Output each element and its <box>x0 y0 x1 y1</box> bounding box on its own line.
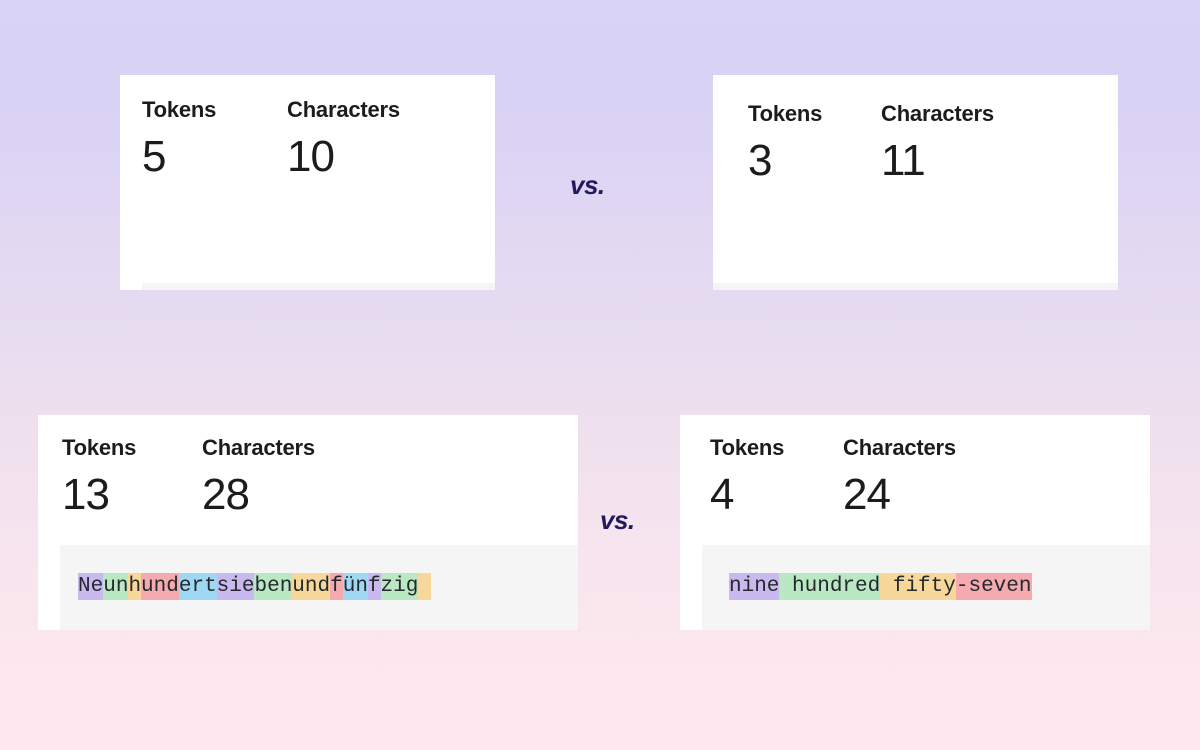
characters-label: Characters <box>202 437 315 459</box>
card-header: Tokens 5 Characters 10 <box>120 75 495 207</box>
token-chip: ün <box>343 573 368 600</box>
comparison-stage: Tokens 5 Characters 10 Cómo estás vs. To… <box>0 0 1200 750</box>
tokens-value: 4 <box>710 473 843 517</box>
tokens-value: 3 <box>748 139 881 183</box>
token-card-german-english: Tokens 4 Characters 24 nine hundred fift… <box>680 415 1150 630</box>
characters-stat: Characters 10 <box>287 99 400 179</box>
characters-label: Characters <box>881 103 994 125</box>
token-chip: hundred <box>779 573 880 600</box>
token-chip: nine <box>729 573 779 600</box>
token-card-spanish: Tokens 5 Characters 10 Cómo estás <box>120 75 495 290</box>
token-chip: zig <box>381 573 419 600</box>
token-chip: sie <box>217 573 255 600</box>
tokens-value: 13 <box>62 473 202 517</box>
characters-value: 24 <box>843 473 956 517</box>
characters-stat: Characters 28 <box>202 437 315 517</box>
versus-separator-top: vs. <box>570 170 605 201</box>
token-chip: ert <box>179 573 217 600</box>
tokens-stat: Tokens 13 <box>62 437 202 517</box>
versus-separator-bottom: vs. <box>600 505 635 536</box>
card-header: Tokens 3 Characters 11 <box>713 75 1118 207</box>
token-chip: f <box>368 573 381 600</box>
token-card-german: Tokens 13 Characters 28 Neunhundertsiebe… <box>38 415 578 630</box>
token-chip <box>418 573 431 600</box>
token-chip: und <box>292 573 330 600</box>
token-panel: Neunhundertsiebenundfünfzig <box>60 545 578 630</box>
tokenized-text: nine hundred fifty-seven <box>729 572 1032 602</box>
token-chip: h <box>128 573 141 600</box>
tokens-label: Tokens <box>748 103 881 125</box>
tokenized-text: Neunhundertsiebenundfünfzig <box>78 572 431 602</box>
tokens-stat: Tokens 5 <box>142 99 287 179</box>
tokens-label: Tokens <box>62 437 202 459</box>
card-header: Tokens 4 Characters 24 <box>680 415 1150 543</box>
token-chip: fifty <box>880 573 956 600</box>
characters-label: Characters <box>843 437 956 459</box>
characters-value: 28 <box>202 473 315 517</box>
tokens-label: Tokens <box>142 99 287 121</box>
token-chip: Ne <box>78 573 103 600</box>
token-chip: und <box>141 573 179 600</box>
token-panel: How are you <box>713 283 1118 290</box>
card-header: Tokens 13 Characters 28 <box>38 415 578 543</box>
characters-value: 11 <box>881 139 994 183</box>
characters-stat: Characters 11 <box>881 103 994 183</box>
token-chip: f <box>330 573 343 600</box>
characters-label: Characters <box>287 99 400 121</box>
tokens-label: Tokens <box>710 437 843 459</box>
token-panel: nine hundred fifty-seven <box>702 545 1150 630</box>
token-chip: ben <box>254 573 292 600</box>
characters-value: 10 <box>287 135 400 179</box>
token-chip: un <box>103 573 128 600</box>
token-chip: -seven <box>956 573 1032 600</box>
token-panel: Cómo estás <box>142 283 495 290</box>
tokens-stat: Tokens 4 <box>710 437 843 517</box>
tokens-value: 5 <box>142 135 287 179</box>
token-card-english: Tokens 3 Characters 11 How are you <box>713 75 1118 290</box>
tokens-stat: Tokens 3 <box>748 103 881 183</box>
characters-stat: Characters 24 <box>843 437 956 517</box>
